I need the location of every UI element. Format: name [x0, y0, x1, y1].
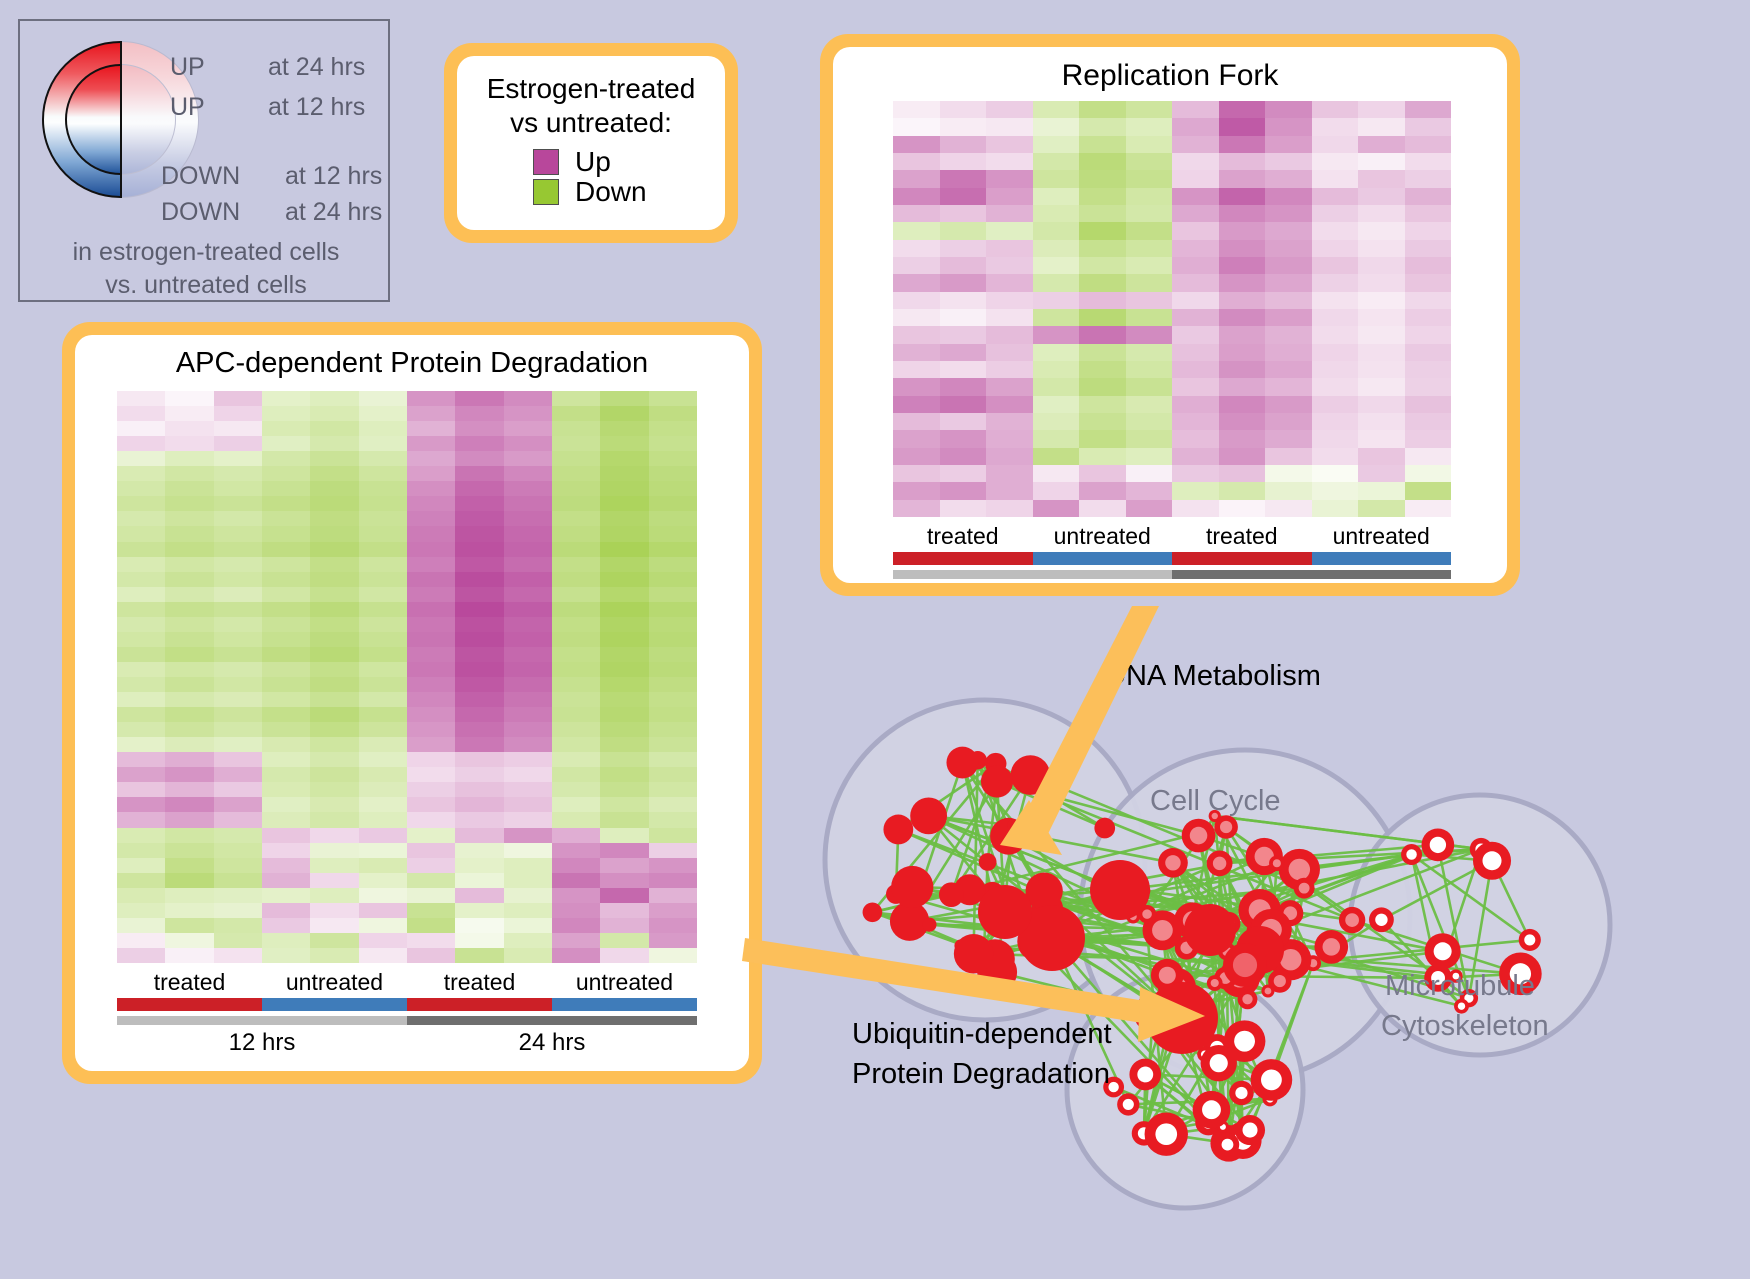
heatmap-cell [986, 344, 1033, 361]
heatmap-cell [310, 707, 358, 722]
heatmap-cell [1033, 205, 1080, 222]
heatmap-cell [359, 632, 407, 647]
heatmap-cell [310, 918, 358, 933]
updown-title-line2: vs untreated: [457, 106, 725, 140]
heatmap-cell [1126, 153, 1173, 170]
heatmap-cell [310, 722, 358, 737]
heatmap-cell [165, 511, 213, 526]
heatmap-cell [359, 466, 407, 481]
heatmap-cell [504, 722, 552, 737]
heatmap-cell [214, 436, 262, 451]
heatmap-cell [455, 557, 503, 572]
heatmap-cell [1405, 482, 1452, 499]
heatmap-cell [359, 557, 407, 572]
heatmap-cell [600, 391, 648, 406]
heatmap-cell [1405, 378, 1452, 395]
heatmap-cell [986, 413, 1033, 430]
heatmap-cell [455, 451, 503, 466]
network-node-core [1261, 1069, 1282, 1090]
up-down-legend-card: Estrogen-treated vs untreated: Up Down [444, 43, 738, 243]
heatmap-cell [986, 326, 1033, 343]
heatmap-cell [455, 888, 503, 903]
heatmap-cell [1219, 448, 1266, 465]
heatmap-cell [455, 481, 503, 496]
heatmap-cell [893, 136, 940, 153]
heatmap-cell [117, 542, 165, 557]
heatmap-cell [504, 496, 552, 511]
functional-enrichment-network: DNA Metabolism Cell Cycle Microtubule Cy… [790, 620, 1750, 1279]
heatmap-cell [1033, 101, 1080, 118]
heatmap-cell [1033, 344, 1080, 361]
heatmap-cell [1265, 482, 1312, 499]
colorwheel-axis-line [120, 41, 122, 198]
heatmap-cell [1405, 274, 1452, 291]
heatmap-cell [1172, 413, 1219, 430]
network-node [946, 747, 978, 779]
heatmap-cell [552, 707, 600, 722]
network-node-core [1213, 857, 1226, 870]
heatmap-cell [165, 782, 213, 797]
heatmap-cell [1126, 326, 1173, 343]
heatmap-cell [310, 617, 358, 632]
network-node [891, 866, 933, 908]
heatmap-cell [359, 722, 407, 737]
heatmap-cell [1219, 326, 1266, 343]
heatmap-cell [214, 677, 262, 692]
heatmap-cell [893, 465, 940, 482]
heatmap-cell [649, 481, 697, 496]
heatmap-cell [1358, 222, 1405, 239]
heatmap-cell [1312, 430, 1359, 447]
heatmap-cell [649, 722, 697, 737]
network-node [1090, 860, 1150, 920]
heatmap-cell [893, 292, 940, 309]
heatmap-cell [407, 752, 455, 767]
heatmap-cell [504, 692, 552, 707]
heatmap-cell [893, 222, 940, 239]
heatmap-cell [214, 511, 262, 526]
heatmap-cell [359, 903, 407, 918]
heatmap-cell [1405, 326, 1452, 343]
heatmap-cell [1172, 153, 1219, 170]
heatmap-cell [1079, 136, 1126, 153]
group-label-treated-24: treated [407, 969, 552, 996]
colorbar-12hrs [893, 570, 1172, 579]
heatmap-cell [455, 812, 503, 827]
heatmap-cell [407, 466, 455, 481]
heatmap-cell [455, 722, 503, 737]
heatmap-cell [262, 481, 310, 496]
heatmap-cell [117, 828, 165, 843]
heatmap-cell [1358, 378, 1405, 395]
heatmap-cell [940, 136, 987, 153]
heatmap-cell [1033, 240, 1080, 257]
heatmap-cell [893, 482, 940, 499]
updown-legend-items: Up Down [457, 148, 725, 206]
heatmap-cell [1033, 465, 1080, 482]
heatmap-cell [310, 737, 358, 752]
heatmap-cell [1405, 500, 1452, 517]
heatmap-cell [310, 587, 358, 602]
heatmap-cell [1126, 448, 1173, 465]
heatmap-cell [310, 451, 358, 466]
heatmap-cell [940, 222, 987, 239]
heatmap-cell [165, 903, 213, 918]
heatmap-cell [1312, 413, 1359, 430]
heatmap-cell [310, 812, 358, 827]
heatmap-cell [940, 326, 987, 343]
heatmap-cell [504, 873, 552, 888]
heatmap-cell [214, 828, 262, 843]
heatmap-cell [552, 647, 600, 662]
heatmap-cell [1126, 222, 1173, 239]
heatmap-cell [1033, 430, 1080, 447]
heatmap-cell [117, 406, 165, 421]
heatmap-cell [455, 782, 503, 797]
heatmap-cell [1405, 344, 1452, 361]
heatmap-cell [649, 662, 697, 677]
heatmap-cell [165, 602, 213, 617]
heatmap-cell [1219, 430, 1266, 447]
heatmap-cell [310, 572, 358, 587]
heatmap-cell [600, 918, 648, 933]
heatmap-cell [1219, 101, 1266, 118]
heatmap-cell [940, 257, 987, 274]
heatmap-cell [600, 722, 648, 737]
heatmap-cell [117, 858, 165, 873]
heatmap-cell [940, 413, 987, 430]
heatmap-cell [359, 707, 407, 722]
down-label: Down [575, 178, 647, 206]
heatmap-cell [1126, 500, 1173, 517]
heatmap-cell [504, 421, 552, 436]
legend-caption-line1: in estrogen-treated cells [20, 238, 392, 267]
heatmap-cell [1219, 344, 1266, 361]
heatmap-cell [1079, 274, 1126, 291]
heatmap-cell [455, 873, 503, 888]
heatmap-cell [986, 257, 1033, 274]
heatmap-cell [117, 496, 165, 511]
heatmap-cell [893, 344, 940, 361]
heatmap-cell [1079, 153, 1126, 170]
colorbar-treated-24 [1172, 552, 1312, 565]
heatmap-cell [893, 153, 940, 170]
network-node [1146, 982, 1218, 1054]
heatmap-cell [504, 391, 552, 406]
heatmap-cell [986, 465, 1033, 482]
heatmap-cell [1126, 170, 1173, 187]
heatmap-cell [893, 361, 940, 378]
heatmap-cell [214, 421, 262, 436]
heatmap-cell [165, 617, 213, 632]
heatmap-cell [649, 632, 697, 647]
heatmap-cell [407, 903, 455, 918]
heatmap-cell [117, 737, 165, 752]
heatmap-cell [1265, 378, 1312, 395]
heatmap-cell [1312, 309, 1359, 326]
heatmap-cell [359, 737, 407, 752]
heatmap-cell [407, 767, 455, 782]
heatmap-cell [455, 843, 503, 858]
heatmap-cell [504, 557, 552, 572]
heatmap-cell [117, 602, 165, 617]
heatmap-cell [407, 602, 455, 617]
network-node-core [1434, 942, 1452, 960]
heatmap-cell [1312, 153, 1359, 170]
heatmap-cell [1033, 309, 1080, 326]
heatmap-cell [262, 557, 310, 572]
heatmap-cell [1126, 361, 1173, 378]
heatmap-cell [1172, 222, 1219, 239]
heatmap-cell [504, 752, 552, 767]
heatmap-cell [600, 421, 648, 436]
heatmap-cell [117, 557, 165, 572]
heatmap-cell [262, 828, 310, 843]
heatmap-cell [649, 572, 697, 587]
heatmap-cell [1358, 482, 1405, 499]
heatmap-cell [407, 496, 455, 511]
heatmap-cell [1033, 170, 1080, 187]
heatmap-cell [455, 466, 503, 481]
heatmap-cell [310, 903, 358, 918]
heatmap-cell [552, 526, 600, 541]
heatmap-cell [1219, 361, 1266, 378]
heatmap-cell [214, 767, 262, 782]
heatmap-cell [1265, 500, 1312, 517]
heatmap-cell [1312, 344, 1359, 361]
heatmap-cell [893, 205, 940, 222]
heatmap-cell [552, 722, 600, 737]
heatmap-cell [1358, 240, 1405, 257]
heatmap-cell [310, 557, 358, 572]
heatmap-cell [455, 632, 503, 647]
heatmap-cell [1079, 309, 1126, 326]
heatmap-cell [1405, 136, 1452, 153]
heatmap-cell [893, 448, 940, 465]
apc-group-colorbars [117, 998, 697, 1011]
heatmap-cell [1405, 153, 1452, 170]
heatmap-cell [940, 396, 987, 413]
heatmap-cell [262, 391, 310, 406]
heatmap-cell [504, 481, 552, 496]
heatmap-cell [893, 274, 940, 291]
heatmap-cell [1033, 413, 1080, 430]
heatmap-cell [1358, 136, 1405, 153]
heatmap-cell [359, 451, 407, 466]
heatmap-cell [1126, 240, 1173, 257]
heatmap-cell [262, 542, 310, 557]
heatmap-cell [117, 903, 165, 918]
apc-timepoint-labels: 12 hrs 24 hrs [117, 1029, 697, 1057]
heatmap-cell [552, 602, 600, 617]
heatmap-cell [986, 309, 1033, 326]
heatmap-cell [214, 722, 262, 737]
heatmap-cell [165, 587, 213, 602]
heatmap-cell [214, 662, 262, 677]
heatmap-cell [1312, 274, 1359, 291]
heatmap-cell [262, 707, 310, 722]
heatmap-cell [504, 918, 552, 933]
heatmap-cell [117, 843, 165, 858]
heatmap-cell [1358, 465, 1405, 482]
heatmap-cell [214, 873, 262, 888]
heatmap-cell [552, 752, 600, 767]
network-node [979, 853, 997, 871]
heatmap-cell [1312, 257, 1359, 274]
heatmap-cell [986, 396, 1033, 413]
heatmap-cell [310, 406, 358, 421]
apc-timepoint-colorbars [117, 1016, 697, 1025]
heatmap-cell [504, 466, 552, 481]
heatmap-cell [1172, 344, 1219, 361]
heatmap-cell [1172, 240, 1219, 257]
heatmap-cell [986, 136, 1033, 153]
heatmap-cell [940, 378, 987, 395]
heatmap-cell [262, 677, 310, 692]
group-label-untreated-24: untreated [552, 969, 697, 996]
heatmap-cell [407, 557, 455, 572]
network-node-core [1524, 934, 1535, 945]
heatmap-cell [359, 948, 407, 963]
heatmap-cell [1265, 292, 1312, 309]
heatmap-cell [165, 737, 213, 752]
heatmap-cell [117, 572, 165, 587]
heatmap-cell [1079, 448, 1126, 465]
heatmap-cell [1358, 170, 1405, 187]
cluster-label-cell-cycle: Cell Cycle [1150, 785, 1281, 818]
heatmap-cell [504, 888, 552, 903]
heatmap-cell [214, 557, 262, 572]
heatmap-cell [359, 391, 407, 406]
cluster-label-microtubule-line2: Cytoskeleton [1381, 1010, 1549, 1043]
heatmap-cell [893, 257, 940, 274]
legend-item-up: Up [533, 148, 725, 176]
heatmap-cell [455, 496, 503, 511]
heatmap-cell [1079, 240, 1126, 257]
heatmap-cell [165, 933, 213, 948]
heatmap-cell [1033, 500, 1080, 517]
heatmap-cell [455, 948, 503, 963]
heatmap-cell [1172, 257, 1219, 274]
apc-group-labels: treated untreated treated untreated [117, 969, 697, 996]
heatmap-cell [262, 797, 310, 812]
heatmap-cell [165, 767, 213, 782]
heatmap-cell [310, 421, 358, 436]
heatmap-cell [359, 782, 407, 797]
heatmap-cell [600, 587, 648, 602]
heatmap-cell [986, 361, 1033, 378]
heatmap-cell [1079, 326, 1126, 343]
heatmap-cell [1126, 274, 1173, 291]
network-node [910, 797, 947, 834]
cluster-label-microtubule-line1: Microtubule [1385, 970, 1535, 1003]
heatmap-cell [262, 737, 310, 752]
network-node [1184, 904, 1236, 956]
heatmap-cell [214, 737, 262, 752]
heatmap-cell [214, 707, 262, 722]
heatmap-cell [1312, 188, 1359, 205]
heatmap-cell [552, 436, 600, 451]
heatmap-cell [1079, 500, 1126, 517]
heatmap-cell [986, 188, 1033, 205]
heatmap-cell [117, 873, 165, 888]
heatmap-cell [1219, 274, 1266, 291]
legend-time-down-24: at 24 hrs [285, 198, 382, 227]
heatmap-cell [359, 542, 407, 557]
heatmap-cell [649, 542, 697, 557]
heatmap-cell [504, 933, 552, 948]
heatmap-cell [359, 677, 407, 692]
heatmap-cell [1033, 118, 1080, 135]
heatmap-cell [310, 677, 358, 692]
heatmap-cell [1265, 153, 1312, 170]
heatmap-cell [214, 858, 262, 873]
heatmap-cell [552, 557, 600, 572]
network-node-core [1323, 938, 1341, 956]
heatmap-cell [165, 858, 213, 873]
heatmap-cell [359, 511, 407, 526]
up-color-swatch [533, 149, 559, 175]
updown-title-line1: Estrogen-treated [457, 72, 725, 106]
heatmap-cell [1172, 396, 1219, 413]
heatmap-cell [1358, 448, 1405, 465]
heatmap-cell [600, 737, 648, 752]
heatmap-cell [600, 948, 648, 963]
heatmap-cell [1033, 153, 1080, 170]
heatmap-cell [986, 153, 1033, 170]
heatmap-cell [986, 101, 1033, 118]
heatmap-cell [600, 542, 648, 557]
heatmap-cell [214, 602, 262, 617]
heatmap-cell [359, 858, 407, 873]
heatmap-cell [552, 873, 600, 888]
group-label-untreated-12: untreated [1033, 523, 1173, 550]
heatmap-cell [1405, 430, 1452, 447]
heatmap-cell [1265, 326, 1312, 343]
heatmap-cell [600, 526, 648, 541]
heatmap-cell [165, 466, 213, 481]
heatmap-cell [455, 828, 503, 843]
network-node-core [1142, 909, 1152, 919]
heatmap-cell [1265, 465, 1312, 482]
heatmap-cell [1312, 101, 1359, 118]
replication-fork-axis: treated untreated treated untreated 12 h… [893, 523, 1451, 583]
heatmap-cell [1172, 465, 1219, 482]
heatmap-cell [986, 430, 1033, 447]
network-node-core [1235, 1087, 1247, 1099]
heatmap-cell [649, 737, 697, 752]
heatmap-cell [649, 406, 697, 421]
heatmap-cell [893, 170, 940, 187]
heatmap-cell [986, 170, 1033, 187]
heatmap-cell [117, 587, 165, 602]
heatmap-cell [1079, 101, 1126, 118]
heatmap-cell [407, 858, 455, 873]
heatmap-cell [1033, 361, 1080, 378]
heatmap-cell [117, 647, 165, 662]
heatmap-cell [504, 828, 552, 843]
heatmap-cell [407, 707, 455, 722]
heatmap-cell [1126, 101, 1173, 118]
heatmap-cell [1358, 101, 1405, 118]
group-label-treated-24: treated [1172, 523, 1312, 550]
heatmap-cell [455, 587, 503, 602]
heatmap-cell [117, 466, 165, 481]
heatmap-cell [600, 903, 648, 918]
network-node-core [1152, 920, 1173, 941]
heatmap-cell [1405, 222, 1452, 239]
network-node [1094, 818, 1115, 839]
